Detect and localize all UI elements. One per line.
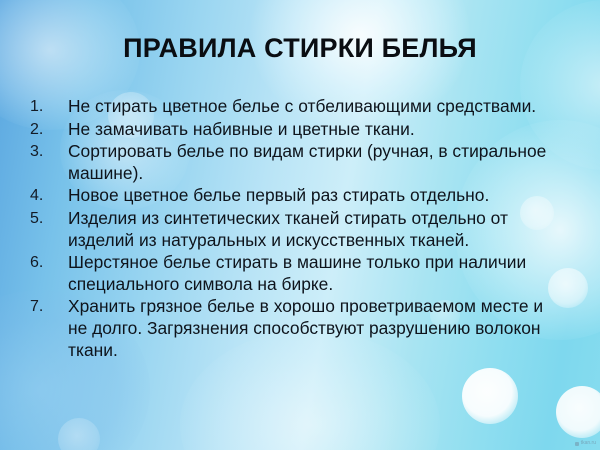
- rule-number-7: 7.: [30, 296, 60, 318]
- rules-list: 1. Не стирать цветное белье с отбеливающ…: [0, 96, 600, 362]
- rule-item-7: 7. Хранить грязное белье в хорошо провет…: [0, 296, 600, 361]
- slide-content: ПРАВИЛА СТИРКИ БЕЛЬЯ 1. Не стирать цветн…: [0, 0, 600, 450]
- slide-canvas: ПРАВИЛА СТИРКИ БЕЛЬЯ 1. Не стирать цветн…: [0, 0, 600, 450]
- rule-number-3: 3.: [30, 141, 60, 163]
- rule-text-6: Шерстяное белье стирать в машине только …: [68, 252, 552, 295]
- watermark-text: tkan.ru: [581, 440, 596, 447]
- rule-text-2: Не замачивать набивные и цветные ткани.: [68, 119, 552, 141]
- rule-number-2: 2.: [30, 119, 60, 141]
- watermark-mark-icon: [575, 442, 579, 446]
- rule-text-5: Изделия из синтетических тканей стирать …: [68, 208, 552, 251]
- rule-item-6: 6. Шерстяное белье стирать в машине толь…: [0, 252, 600, 295]
- watermark: tkan.ru: [575, 440, 596, 447]
- rule-item-3: 3. Сортировать белье по видам стирки (ру…: [0, 141, 600, 184]
- rule-number-1: 1.: [30, 96, 60, 118]
- rule-number-6: 6.: [30, 252, 60, 274]
- rule-item-4: 4. Новое цветное белье первый раз стират…: [0, 185, 600, 207]
- rule-item-2: 2. Не замачивать набивные и цветные ткан…: [0, 119, 600, 141]
- rule-item-1: 1. Не стирать цветное белье с отбеливающ…: [0, 96, 600, 118]
- rule-text-7: Хранить грязное белье в хорошо проветрив…: [68, 296, 552, 361]
- rule-text-3: Сортировать белье по видам стирки (ручна…: [68, 141, 552, 184]
- rule-number-5: 5.: [30, 208, 60, 230]
- rule-number-4: 4.: [30, 185, 60, 207]
- rule-item-5: 5. Изделия из синтетических тканей стира…: [0, 208, 600, 251]
- rule-text-1: Не стирать цветное белье с отбеливающими…: [68, 96, 552, 118]
- slide-title: ПРАВИЛА СТИРКИ БЕЛЬЯ: [0, 33, 600, 64]
- rule-text-4: Новое цветное белье первый раз стирать о…: [68, 185, 552, 207]
